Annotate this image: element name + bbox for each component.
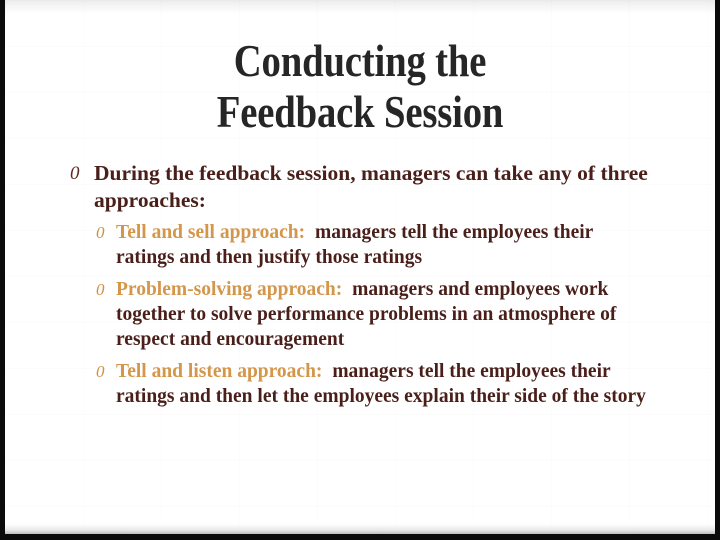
bullet-marker-icon: 0 xyxy=(96,220,105,245)
slide-border-bottom xyxy=(0,534,720,540)
slide-top-sheen xyxy=(0,0,720,14)
bullet-level1-intro: 0 During the feedback session, managers … xyxy=(0,160,720,214)
bullet-level1-text: During the feedback session, managers ca… xyxy=(94,161,648,212)
bullet-marker-icon: 0 xyxy=(70,160,80,187)
bullet-level2-lead: Tell and listen approach: xyxy=(116,361,322,382)
slide-bottom-sheen xyxy=(5,524,715,534)
slide-title: Conducting the Feedback Session xyxy=(85,36,635,138)
bullet-marker-icon: 0 xyxy=(96,277,105,302)
slide-title-line-1: Conducting the xyxy=(85,36,635,87)
presentation-slide: Conducting the Feedback Session 0 During… xyxy=(0,0,720,540)
bullet-marker-icon: 0 xyxy=(96,359,105,384)
bullet-level2-tell-and-listen: 0 Tell and listen approach: managers tel… xyxy=(0,359,720,409)
bullet-level2-problem-solving: 0 Problem-solving approach: managers and… xyxy=(0,277,720,352)
slide-title-line-2: Feedback Session xyxy=(85,87,635,138)
bullet-level2-lead: Problem-solving approach: xyxy=(116,279,342,300)
bullet-level2-lead: Tell and sell approach: xyxy=(116,222,305,243)
bullet-level2-tell-and-sell: 0 Tell and sell approach: managers tell … xyxy=(0,220,720,270)
slide-body: 0 During the feedback session, managers … xyxy=(0,160,720,416)
